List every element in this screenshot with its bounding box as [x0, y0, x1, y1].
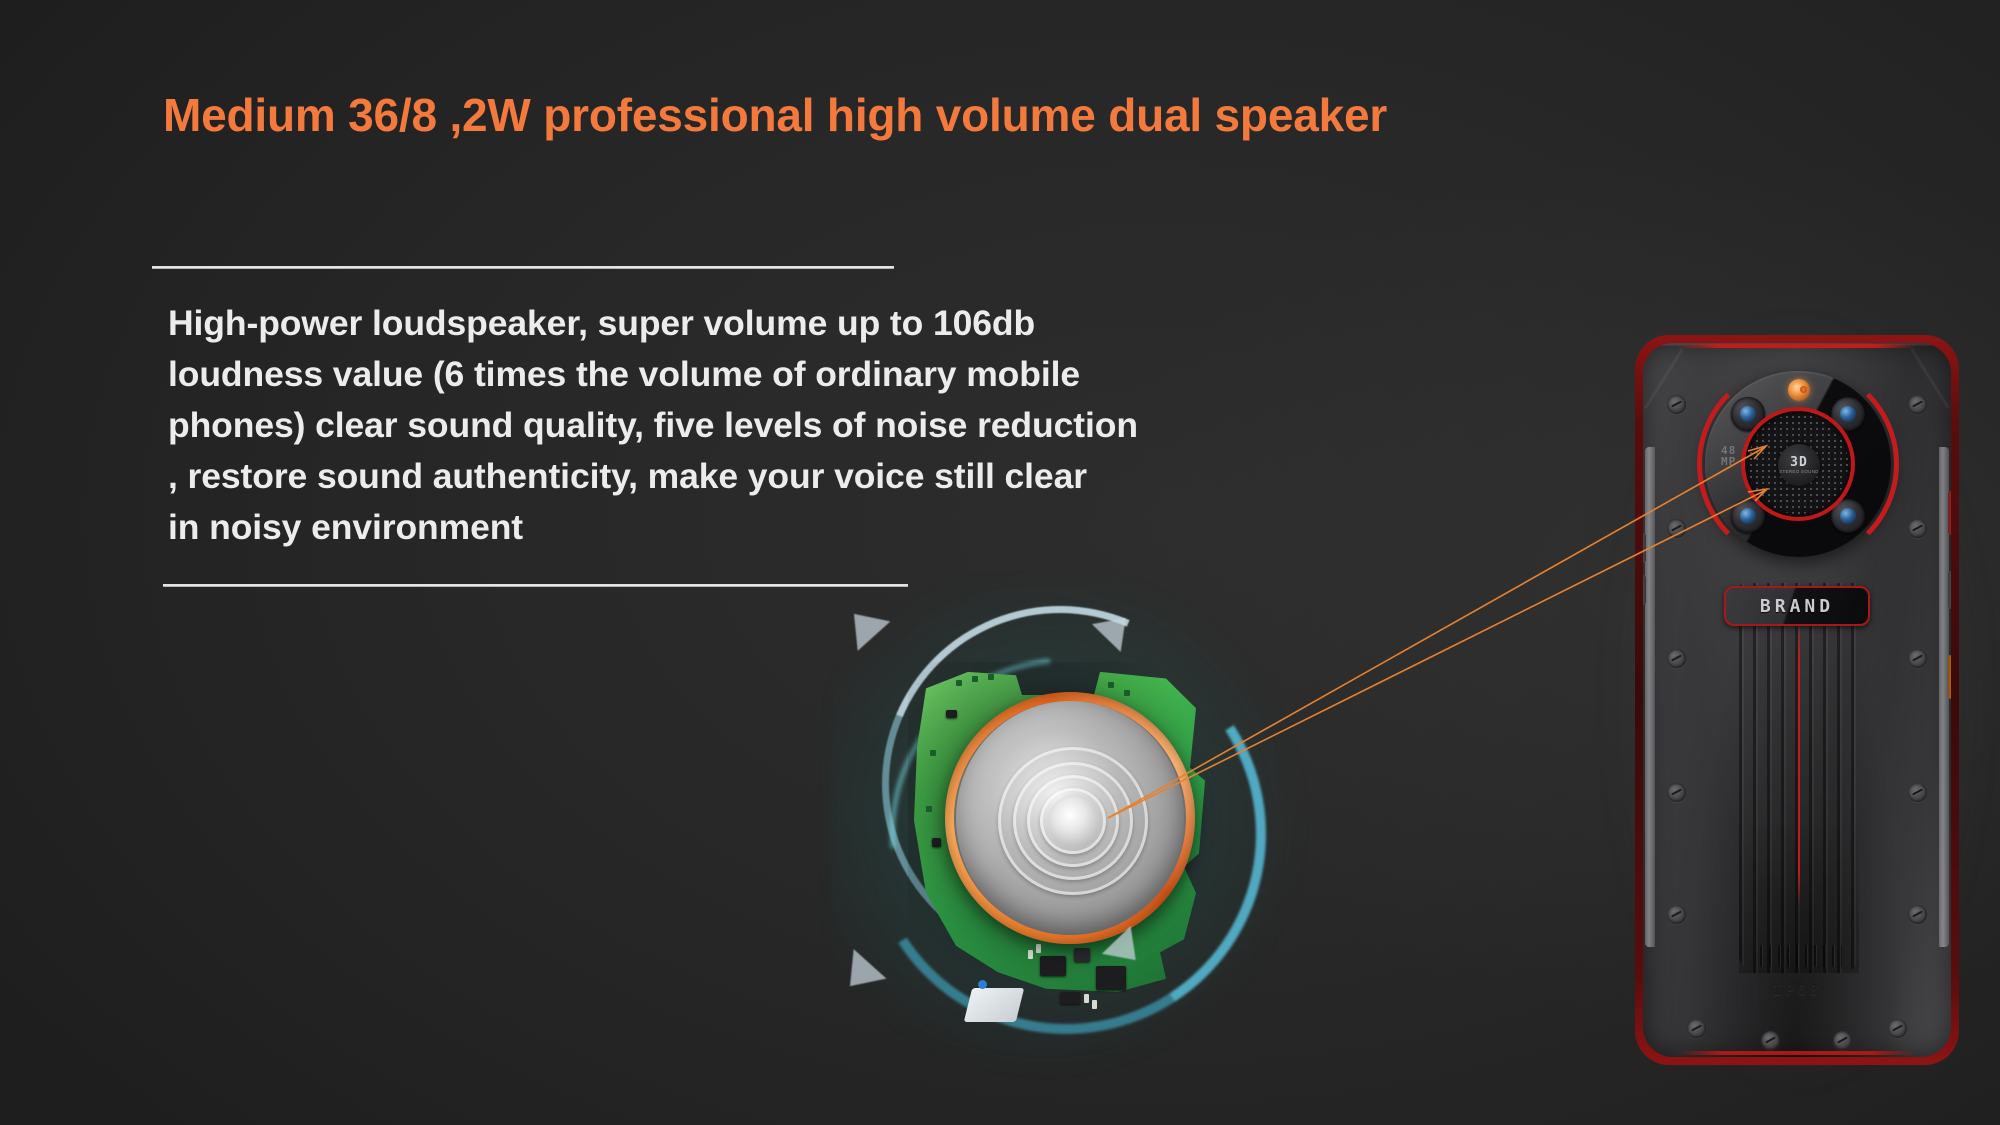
screw-icon	[1908, 649, 1927, 668]
pcb-pad	[930, 750, 936, 756]
pcb-smd	[1028, 950, 1033, 959]
screw-icon	[1667, 783, 1686, 802]
phone-back-panel: 48 MP 3D STEREO SOUND BRAND	[1643, 343, 1951, 1057]
pcb-pad	[1108, 682, 1114, 688]
pcb-chip	[932, 838, 941, 847]
pcb-smd	[1084, 994, 1089, 1003]
phone-top-accent	[1677, 344, 1917, 348]
screw-icon	[1761, 1031, 1780, 1050]
speaker-grille-ring: 3D STEREO SOUND	[1741, 407, 1855, 521]
pcb-pad	[926, 806, 932, 812]
megapixel-label: 48 MP	[1721, 445, 1736, 467]
pcb-smd	[1036, 944, 1041, 953]
phone-button-red	[1948, 491, 1951, 535]
screw-icon	[1687, 1019, 1706, 1038]
pcb-chip	[1060, 992, 1080, 1004]
phone-button-orange	[1948, 655, 1951, 699]
body-paragraph: High-power loudspeaker, super volume up …	[168, 298, 1468, 553]
phone-bottom-accent	[1677, 1051, 1917, 1055]
screw-icon	[1908, 905, 1927, 924]
pcb-pad	[1124, 690, 1130, 696]
pcb-pad	[956, 680, 962, 686]
screw-icon	[1667, 905, 1686, 924]
brand-label: BRAND	[1760, 596, 1834, 617]
phone-bottom-grille	[1760, 945, 1842, 967]
screw-icon	[1667, 519, 1686, 538]
screw-icon	[1908, 519, 1927, 538]
pcb-pad	[988, 674, 994, 680]
screw-icon	[1667, 395, 1686, 414]
phone-side-rail-left	[1645, 447, 1655, 947]
brand-logo-plate: BRAND	[1724, 586, 1870, 626]
phone-center-red-line	[1798, 621, 1800, 906]
page-title: Medium 36/8 ,2W professional high volume…	[163, 88, 1387, 142]
phone-volume-up-button	[1643, 533, 1646, 563]
speaker-cone	[956, 701, 1184, 935]
cone-highlight	[956, 701, 1184, 935]
screw-icon	[1888, 1019, 1907, 1038]
screw-icon	[1908, 783, 1927, 802]
pcb-smd	[1092, 1000, 1097, 1009]
badge-3d-subtext: STEREO SOUND	[1779, 469, 1819, 474]
divider-bottom	[163, 584, 908, 587]
screw-icon	[1908, 395, 1927, 414]
pcb-connector	[964, 988, 1024, 1022]
divider-top	[152, 266, 894, 269]
camera-flash-icon	[1788, 379, 1810, 401]
pcb-pad	[972, 676, 978, 682]
screw-icon	[1833, 1031, 1852, 1050]
pcb-chip	[1074, 948, 1090, 962]
slide-canvas: Medium 36/8 ,2W professional high volume…	[0, 0, 2000, 1125]
phone-product-image: 48 MP 3D STEREO SOUND BRAND	[1633, 335, 1961, 1065]
pcb-test-point	[978, 980, 987, 989]
ip-rating-label: IP68	[1643, 981, 1951, 999]
speaker-module-illustration	[860, 600, 1280, 1060]
speaker-3d-badge: 3D STEREO SOUND	[1778, 444, 1820, 486]
screw-icon	[1667, 649, 1686, 668]
badge-3d-text: 3D	[1790, 457, 1808, 469]
pcb-chip	[1040, 956, 1066, 976]
phone-volume-down-button	[1643, 575, 1646, 605]
camera-speaker-module: 48 MP 3D STEREO SOUND	[1705, 371, 1891, 557]
phone-button-power	[1948, 571, 1951, 609]
